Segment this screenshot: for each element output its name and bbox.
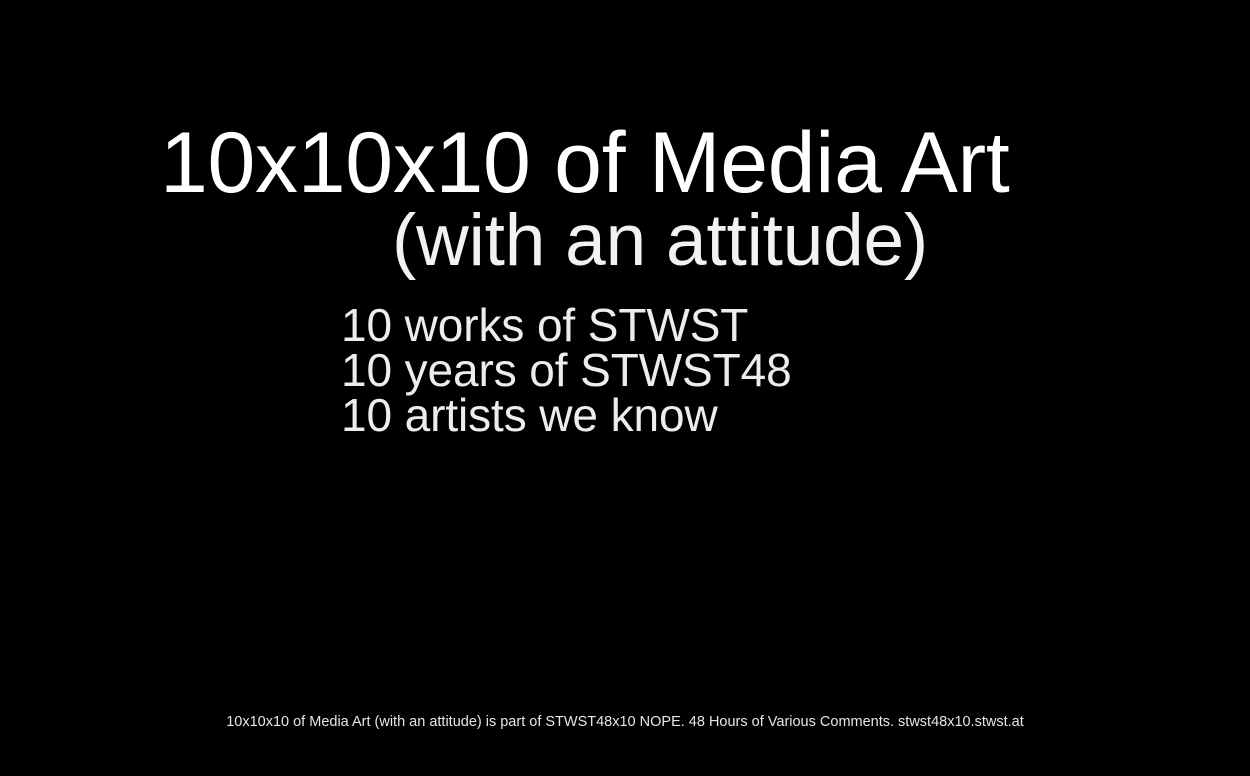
slide-body-list: 10 works of STWST 10 years of STWST48 10… [341,303,1041,438]
presentation-slide: 10x10x10 of Media Art (with an attitude)… [0,0,1250,776]
slide-footer-credit: 10x10x10 of Media Art (with an attitude)… [0,712,1250,732]
body-line-2: 10 years of STWST48 [341,348,1041,393]
slide-title-line-1: 10x10x10 of Media Art [160,120,1000,206]
body-line-3: 10 artists we know [341,393,1041,438]
slide-title-line-2: (with an attitude) [160,204,1160,277]
body-line-1: 10 works of STWST [341,303,1041,348]
